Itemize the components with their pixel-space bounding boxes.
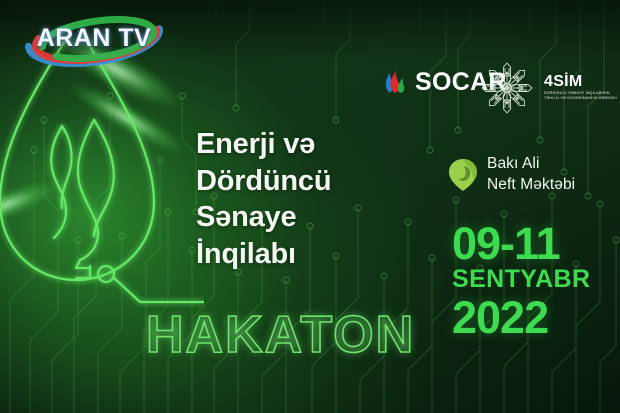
event-date-month: SENTYABR xyxy=(452,265,590,295)
oil-droplet-flame-icon xyxy=(0,34,204,334)
4sim-subtitle-line2: TƏHLİLİ VƏ KOORDİNASİYA MƏRKƏZİ xyxy=(544,96,617,101)
event-date-year: 2022 xyxy=(452,295,590,340)
event-poster: ARAN TV SOCAR xyxy=(0,0,620,413)
venue-line-2: Neft Məktəbi xyxy=(487,175,575,196)
page-title: Enerji və Dördüncü Sənaye İnqilabı xyxy=(196,126,411,273)
title-line-1: Enerji və xyxy=(196,126,411,163)
venue-label: Bakı Ali Neft Məktəbi xyxy=(487,154,575,196)
hakaton-wordmark: HAKATON xyxy=(146,305,415,365)
title-line-2: Dördüncü xyxy=(196,163,411,200)
4sim-label: 4SİM xyxy=(544,74,617,91)
light-streak-mid xyxy=(65,75,190,161)
aran-tv-logo[interactable]: ARAN TV xyxy=(14,9,174,67)
aran-tv-label: ARAN TV xyxy=(14,9,174,67)
event-date-days: 09-11 xyxy=(452,222,590,265)
venue-line-1: Bakı Ali xyxy=(487,154,575,175)
title-line-4: İnqilabı xyxy=(196,236,411,273)
event-date: 09-11 SENTYABR 2022 xyxy=(452,222,590,340)
light-streak-left xyxy=(0,174,61,236)
bhos-leaf-icon xyxy=(448,158,478,192)
socar-flame-icon xyxy=(381,69,408,96)
4sim-logo[interactable]: 4SİM DÖRDÜNCÜ SƏNAYE İNQILABININ TƏHLİLİ… xyxy=(478,60,617,116)
4sim-ornament-icon xyxy=(478,60,536,116)
title-line-3: Sənaye xyxy=(196,199,411,236)
venue-block[interactable]: Bakı Ali Neft Məktəbi xyxy=(448,154,575,196)
